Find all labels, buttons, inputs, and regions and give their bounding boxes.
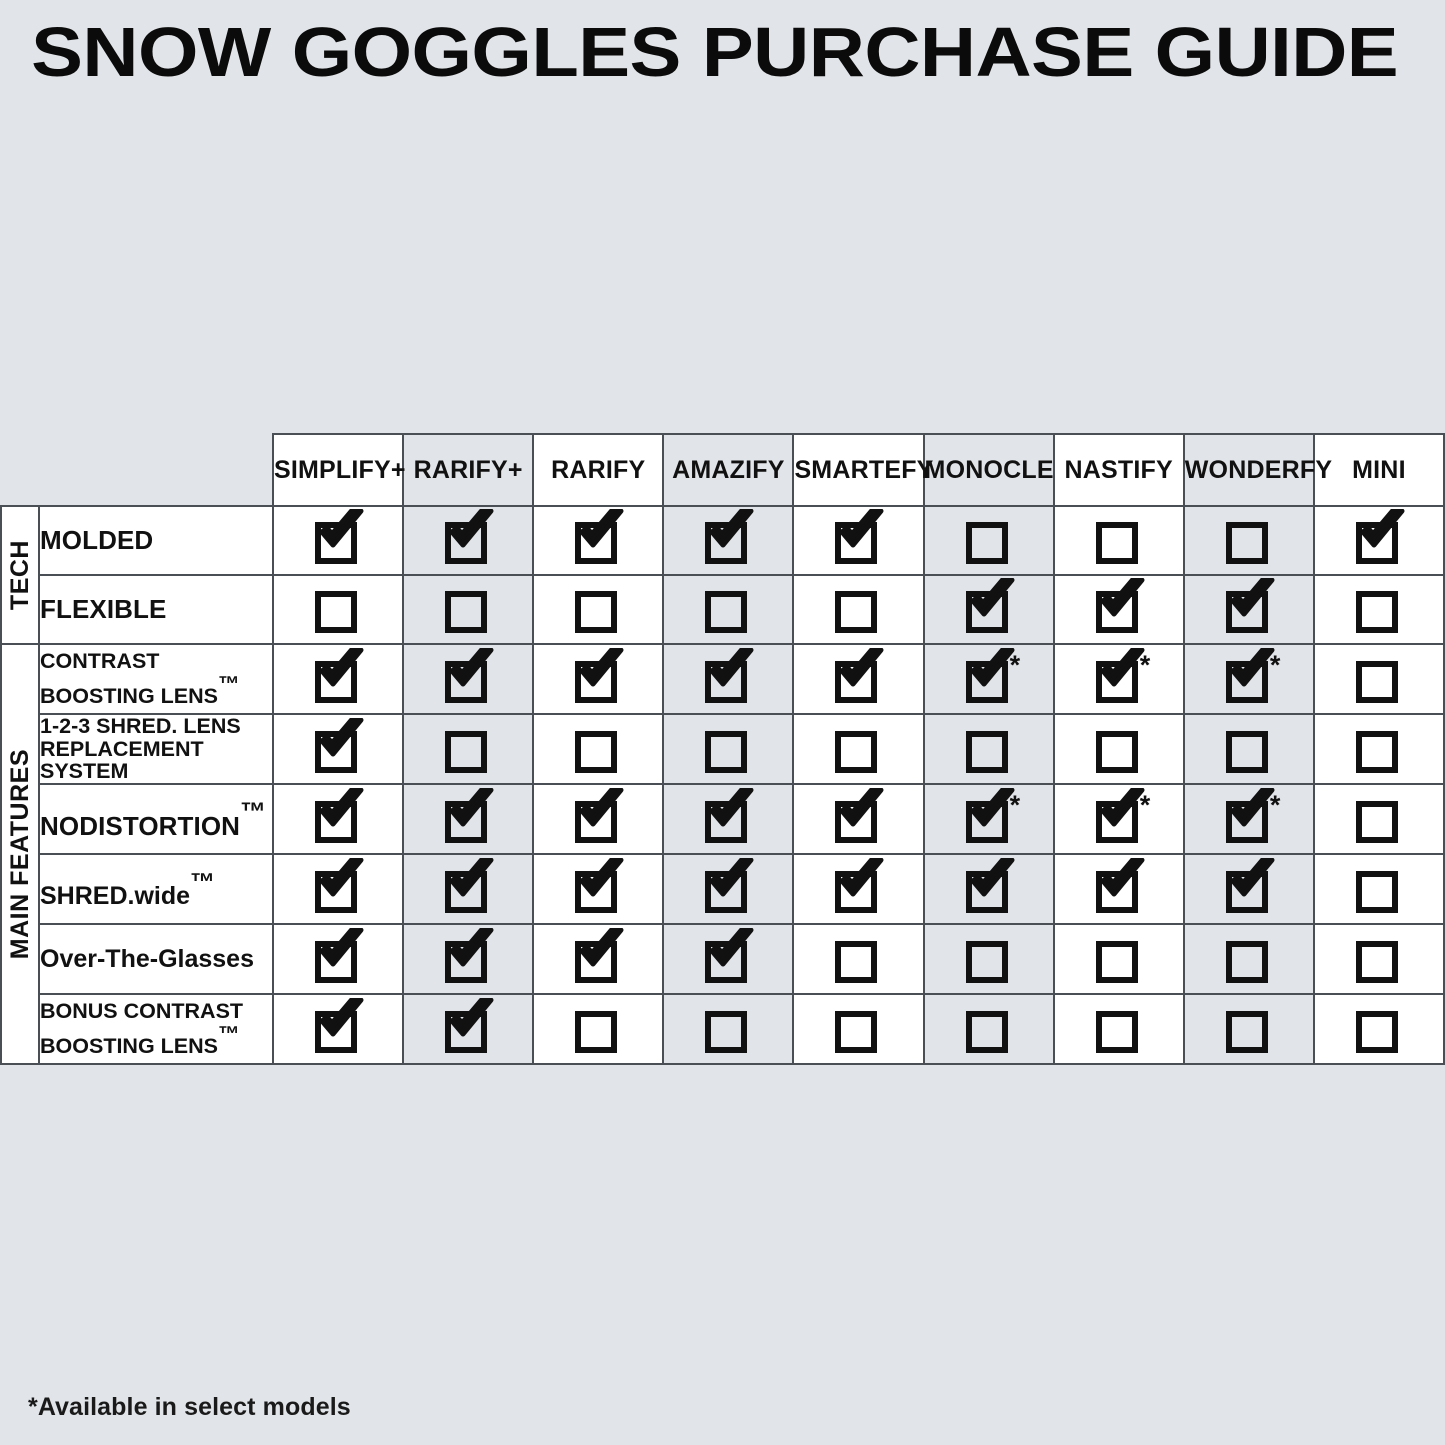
checkbox-box-icon <box>705 801 747 843</box>
checkbox-checked-icon <box>567 516 629 560</box>
checkbox-checked-icon <box>827 516 889 560</box>
cell-flexible-monocle[interactable] <box>924 575 1054 644</box>
cell-bonus-contrast-boosting-lens-simplify[interactable] <box>273 994 403 1064</box>
checkbox-box-icon <box>575 1011 617 1053</box>
cell-bonus-contrast-boosting-lens-rarify[interactable] <box>533 994 663 1064</box>
cell-1-2-3-shred-lens-replacement-system-wonderfy[interactable] <box>1184 714 1314 784</box>
checkbox-box-icon <box>575 731 617 773</box>
cell-flexible-rarify[interactable] <box>403 575 533 644</box>
checkbox-box-icon <box>1356 522 1398 564</box>
checkbox-checked-icon <box>307 516 369 560</box>
checkbox-checked-icon <box>307 865 369 909</box>
checkbox-empty-icon <box>827 585 889 629</box>
cell-flexible-nastify[interactable] <box>1054 575 1184 644</box>
asterisk-marker: * <box>1010 652 1021 679</box>
cell-bonus-contrast-boosting-lens-nastify[interactable] <box>1054 994 1184 1064</box>
checkbox-box-icon <box>315 1011 357 1053</box>
checkbox-empty-icon <box>1348 1005 1410 1049</box>
checkbox-empty-icon <box>697 1005 759 1049</box>
checkbox-box-icon <box>966 661 1008 703</box>
checkbox-box-icon <box>575 591 617 633</box>
checkbox-checked-icon <box>567 935 629 979</box>
checkbox-box-icon <box>445 801 487 843</box>
checkbox-empty-icon <box>1348 795 1410 839</box>
checkbox-box-icon <box>705 661 747 703</box>
checkbox-empty-icon <box>958 935 1020 979</box>
checkbox-box-icon <box>575 941 617 983</box>
checkbox-box-icon <box>1226 731 1268 773</box>
checkbox-box-icon <box>705 1011 747 1053</box>
checkbox-empty-icon <box>1348 725 1410 769</box>
checkbox-box-icon <box>315 731 357 773</box>
trademark-icon: ™ <box>218 672 240 696</box>
checkbox-box-icon <box>835 941 877 983</box>
table-body: TECHMOLDEDFLEXIBLEMAIN FEATURESCONTRAST … <box>1 506 1444 1064</box>
checkbox-box-icon <box>1096 941 1138 983</box>
checkbox-box-icon <box>835 731 877 773</box>
title-bar: SNOW GOGGLES PURCHASE GUIDE <box>0 0 1445 104</box>
checkbox-empty-icon <box>697 725 759 769</box>
cell-contrast-boosting-lens-smartefy[interactable] <box>793 644 923 714</box>
cell-1-2-3-shred-lens-replacement-system-nastify[interactable] <box>1054 714 1184 784</box>
checkbox-empty-icon <box>697 585 759 629</box>
cell-bonus-contrast-boosting-lens-rarify[interactable] <box>403 994 533 1064</box>
cell-molded-amazify[interactable] <box>663 506 793 575</box>
checkbox-box-icon <box>705 591 747 633</box>
table-row: Over-The-Glasses <box>1 924 1444 994</box>
column-header-row: SIMPLIFY+RARIFY+RARIFYAMAZIFYSMARTEFYMON… <box>1 434 1444 506</box>
cell-contrast-boosting-lens-nastify[interactable]: * <box>1054 644 1184 714</box>
cell-shred-wide-rarify[interactable] <box>533 854 663 924</box>
checkbox-box-icon <box>1096 661 1138 703</box>
checkbox-box-icon <box>1356 661 1398 703</box>
checkbox-empty-icon <box>1348 655 1410 699</box>
checkbox-empty-icon <box>958 725 1020 769</box>
checkbox-checked-icon <box>827 795 889 839</box>
checkbox-checked-icon <box>307 655 369 699</box>
asterisk-marker: * <box>1270 792 1281 819</box>
checkbox-empty-icon <box>567 1005 629 1049</box>
cell-shred-wide-monocle[interactable] <box>924 854 1054 924</box>
checkbox-box-icon <box>1096 591 1138 633</box>
checkbox-checked-icon <box>307 795 369 839</box>
cell-contrast-boosting-lens-rarify[interactable] <box>533 644 663 714</box>
asterisk-marker: * <box>1010 792 1021 819</box>
asterisk-marker: * <box>1140 652 1151 679</box>
checkbox-box-icon <box>1356 1011 1398 1053</box>
checkbox-empty-icon <box>1088 516 1150 560</box>
cell-molded-wonderfy[interactable] <box>1184 506 1314 575</box>
checkbox-box-icon <box>315 522 357 564</box>
checkbox-empty-icon <box>958 516 1020 560</box>
checkbox-empty-icon <box>437 725 499 769</box>
cell-molded-simplify[interactable] <box>273 506 403 575</box>
checkbox-empty-icon <box>1218 1005 1280 1049</box>
checkbox-box-icon <box>966 522 1008 564</box>
column-header-rarify: RARIFY+ <box>403 434 533 506</box>
checkbox-checked-icon <box>307 725 369 769</box>
checkbox-checked-icon: * <box>1218 655 1280 699</box>
cell-nodistortion-wonderfy[interactable]: * <box>1184 784 1314 854</box>
corner-blank-feature <box>39 434 273 506</box>
checkbox-checked-icon: * <box>1218 795 1280 839</box>
table-row: NODISTORTION™*** <box>1 784 1444 854</box>
cell-over-the-glasses-monocle[interactable] <box>924 924 1054 994</box>
cell-molded-nastify[interactable] <box>1054 506 1184 575</box>
cell-over-the-glasses-mini[interactable] <box>1314 924 1444 994</box>
column-header-rarify: RARIFY <box>533 434 663 506</box>
asterisk-marker: * <box>1140 792 1151 819</box>
cell-shred-wide-rarify[interactable] <box>403 854 533 924</box>
cell-1-2-3-shred-lens-replacement-system-rarify[interactable] <box>533 714 663 784</box>
checkbox-checked-icon <box>437 865 499 909</box>
cell-nodistortion-smartefy[interactable] <box>793 784 923 854</box>
cell-shred-wide-nastify[interactable] <box>1054 854 1184 924</box>
feature-label-shred-wide: SHRED.wide™ <box>39 854 273 924</box>
checkbox-empty-icon <box>827 725 889 769</box>
checkbox-empty-icon <box>567 725 629 769</box>
cell-contrast-boosting-lens-amazify[interactable] <box>663 644 793 714</box>
cell-bonus-contrast-boosting-lens-amazify[interactable] <box>663 994 793 1064</box>
checkbox-checked-icon <box>697 795 759 839</box>
column-header-nastify: NASTIFY <box>1054 434 1184 506</box>
section-label-text: MAIN FEATURES <box>6 749 35 959</box>
feature-label-text: 1-2-3 SHRED. LENS REPLACEMENT SYSTEM <box>40 714 241 783</box>
checkbox-box-icon <box>1226 1011 1268 1053</box>
cell-nodistortion-amazify[interactable] <box>663 784 793 854</box>
corner-blank-section <box>1 434 39 506</box>
checkbox-box-icon <box>966 871 1008 913</box>
cell-nodistortion-mini[interactable] <box>1314 784 1444 854</box>
table-row: FLEXIBLE <box>1 575 1444 644</box>
checkbox-box-icon <box>1356 591 1398 633</box>
cell-over-the-glasses-simplify[interactable] <box>273 924 403 994</box>
cell-1-2-3-shred-lens-replacement-system-monocle[interactable] <box>924 714 1054 784</box>
cell-bonus-contrast-boosting-lens-monocle[interactable] <box>924 994 1054 1064</box>
checkbox-box-icon <box>575 871 617 913</box>
checkbox-empty-icon <box>1218 725 1280 769</box>
checkbox-checked-icon <box>567 865 629 909</box>
checkbox-box-icon <box>1096 801 1138 843</box>
cell-shred-wide-wonderfy[interactable] <box>1184 854 1314 924</box>
checkbox-box-icon <box>575 661 617 703</box>
feature-label-text: Over-The-Glasses <box>40 945 254 973</box>
cell-1-2-3-shred-lens-replacement-system-mini[interactable] <box>1314 714 1444 784</box>
checkbox-empty-icon <box>827 1005 889 1049</box>
checkbox-checked-icon <box>958 585 1020 629</box>
checkbox-box-icon <box>1226 591 1268 633</box>
cell-molded-mini[interactable] <box>1314 506 1444 575</box>
column-header-monocle: MONOCLE <box>924 434 1054 506</box>
table-header: SIMPLIFY+RARIFY+RARIFYAMAZIFYSMARTEFYMON… <box>1 434 1444 506</box>
section-label-text: TECH <box>6 540 35 610</box>
checkbox-checked-icon <box>567 795 629 839</box>
checkbox-checked-icon <box>697 516 759 560</box>
checkbox-box-icon <box>1356 801 1398 843</box>
checkbox-empty-icon <box>1088 725 1150 769</box>
checkbox-checked-icon <box>1218 585 1280 629</box>
cell-contrast-boosting-lens-simplify[interactable] <box>273 644 403 714</box>
feature-label-1-2-3-shred-lens-replacement-system: 1-2-3 SHRED. LENS REPLACEMENT SYSTEM <box>39 714 273 784</box>
checkbox-box-icon <box>705 731 747 773</box>
checkbox-box-icon <box>1356 871 1398 913</box>
checkbox-box-icon <box>445 731 487 773</box>
checkbox-box-icon <box>445 591 487 633</box>
cell-shred-wide-mini[interactable] <box>1314 854 1444 924</box>
checkbox-checked-icon: * <box>958 655 1020 699</box>
checkbox-box-icon <box>315 941 357 983</box>
cell-molded-monocle[interactable] <box>924 506 1054 575</box>
checkbox-box-icon <box>445 661 487 703</box>
checkbox-empty-icon <box>1088 1005 1150 1049</box>
cell-shred-wide-simplify[interactable] <box>273 854 403 924</box>
cell-flexible-simplify[interactable] <box>273 575 403 644</box>
checkbox-checked-icon <box>1218 865 1280 909</box>
table-row: BONUS CONTRAST BOOSTING LENS™ <box>1 994 1444 1064</box>
checkbox-box-icon <box>835 591 877 633</box>
feature-label-nodistortion: NODISTORTION™ <box>39 784 273 854</box>
cell-over-the-glasses-nastify[interactable] <box>1054 924 1184 994</box>
cell-flexible-amazify[interactable] <box>663 575 793 644</box>
cell-1-2-3-shred-lens-replacement-system-smartefy[interactable] <box>793 714 923 784</box>
checkbox-box-icon <box>966 731 1008 773</box>
checkbox-box-icon <box>966 1011 1008 1053</box>
cell-molded-smartefy[interactable] <box>793 506 923 575</box>
checkbox-checked-icon: * <box>1088 795 1150 839</box>
cell-molded-rarify[interactable] <box>533 506 663 575</box>
checkbox-box-icon <box>1096 1011 1138 1053</box>
checkbox-checked-icon <box>697 655 759 699</box>
checkbox-checked-icon <box>1088 585 1150 629</box>
cell-flexible-smartefy[interactable] <box>793 575 923 644</box>
checkbox-empty-icon <box>1088 935 1150 979</box>
checkbox-checked-icon <box>437 516 499 560</box>
checkbox-checked-icon <box>437 935 499 979</box>
checkbox-checked-icon <box>437 655 499 699</box>
cell-1-2-3-shred-lens-replacement-system-amazify[interactable] <box>663 714 793 784</box>
checkbox-checked-icon <box>958 865 1020 909</box>
goggles-comparison-table: SIMPLIFY+RARIFY+RARIFYAMAZIFYSMARTEFYMON… <box>0 433 1445 1065</box>
feature-label-text: FLEXIBLE <box>40 594 166 624</box>
checkbox-checked-icon <box>1348 516 1410 560</box>
checkbox-box-icon <box>445 522 487 564</box>
checkbox-empty-icon <box>1348 585 1410 629</box>
cell-flexible-mini[interactable] <box>1314 575 1444 644</box>
checkbox-box-icon <box>315 871 357 913</box>
cell-over-the-glasses-amazify[interactable] <box>663 924 793 994</box>
checkbox-box-icon <box>705 522 747 564</box>
checkbox-box-icon <box>1096 871 1138 913</box>
checkbox-box-icon <box>575 801 617 843</box>
checkbox-empty-icon <box>437 585 499 629</box>
checkbox-checked-icon <box>697 935 759 979</box>
feature-label-contrast-boosting-lens: CONTRAST BOOSTING LENS™ <box>39 644 273 714</box>
trademark-icon: ™ <box>218 1022 240 1046</box>
checkbox-box-icon <box>445 871 487 913</box>
feature-label-text: NODISTORTION™ <box>40 811 266 841</box>
table-row: SHRED.wide™ <box>1 854 1444 924</box>
checkbox-box-icon <box>445 941 487 983</box>
checkbox-checked-icon <box>827 655 889 699</box>
cell-contrast-boosting-lens-rarify[interactable] <box>403 644 533 714</box>
section-label-tech: TECH <box>1 506 39 644</box>
checkbox-checked-icon <box>567 655 629 699</box>
checkbox-box-icon <box>835 871 877 913</box>
checkbox-box-icon <box>315 661 357 703</box>
column-header-smartefy: SMARTEFY <box>793 434 923 506</box>
cell-flexible-wonderfy[interactable] <box>1184 575 1314 644</box>
cell-nodistortion-nastify[interactable]: * <box>1054 784 1184 854</box>
checkbox-box-icon <box>1356 731 1398 773</box>
checkbox-checked-icon <box>1088 865 1150 909</box>
table-row: MAIN FEATURESCONTRAST BOOSTING LENS™*** <box>1 644 1444 714</box>
checkbox-box-icon <box>966 591 1008 633</box>
cell-contrast-boosting-lens-wonderfy[interactable]: * <box>1184 644 1314 714</box>
feature-label-text: SHRED.wide™ <box>40 882 215 910</box>
table-row: TECHMOLDED <box>1 506 1444 575</box>
cell-shred-wide-smartefy[interactable] <box>793 854 923 924</box>
checkbox-empty-icon <box>1218 516 1280 560</box>
asterisk-marker: * <box>1270 652 1281 679</box>
feature-label-text: BONUS CONTRAST BOOSTING LENS™ <box>40 999 243 1057</box>
cell-contrast-boosting-lens-monocle[interactable]: * <box>924 644 1054 714</box>
feature-label-flexible: FLEXIBLE <box>39 575 273 644</box>
cell-over-the-glasses-smartefy[interactable] <box>793 924 923 994</box>
cell-over-the-glasses-rarify[interactable] <box>403 924 533 994</box>
checkbox-checked-icon <box>827 865 889 909</box>
column-header-amazify: AMAZIFY <box>663 434 793 506</box>
cell-bonus-contrast-boosting-lens-smartefy[interactable] <box>793 994 923 1064</box>
checkbox-empty-icon <box>827 935 889 979</box>
cell-1-2-3-shred-lens-replacement-system-rarify[interactable] <box>403 714 533 784</box>
checkbox-empty-icon <box>1218 935 1280 979</box>
checkbox-box-icon <box>835 661 877 703</box>
page-title: SNOW GOGGLES PURCHASE GUIDE <box>0 17 1398 87</box>
cell-1-2-3-shred-lens-replacement-system-simplify[interactable] <box>273 714 403 784</box>
checkbox-box-icon <box>1096 731 1138 773</box>
checkbox-box-icon <box>1226 522 1268 564</box>
checkbox-box-icon <box>1356 941 1398 983</box>
checkbox-checked-icon: * <box>1088 655 1150 699</box>
checkbox-box-icon <box>315 801 357 843</box>
column-header-simplify: SIMPLIFY+ <box>273 434 403 506</box>
footnote-available-select-models: *Available in select models <box>28 1393 351 1422</box>
checkbox-box-icon <box>1226 661 1268 703</box>
cell-molded-rarify[interactable] <box>403 506 533 575</box>
checkbox-empty-icon <box>1348 865 1410 909</box>
cell-bonus-contrast-boosting-lens-mini[interactable] <box>1314 994 1444 1064</box>
checkbox-box-icon <box>1096 522 1138 564</box>
trademark-icon: ™ <box>240 796 266 826</box>
checkbox-box-icon <box>966 801 1008 843</box>
cell-nodistortion-rarify[interactable] <box>533 784 663 854</box>
checkbox-checked-icon <box>437 1005 499 1049</box>
checkbox-checked-icon <box>437 795 499 839</box>
cell-over-the-glasses-wonderfy[interactable] <box>1184 924 1314 994</box>
cell-shred-wide-amazify[interactable] <box>663 854 793 924</box>
cell-flexible-rarify[interactable] <box>533 575 663 644</box>
cell-nodistortion-rarify[interactable] <box>403 784 533 854</box>
checkbox-box-icon <box>835 522 877 564</box>
checkbox-checked-icon <box>307 1005 369 1049</box>
feature-label-text: MOLDED <box>40 525 153 555</box>
checkbox-empty-icon <box>567 585 629 629</box>
table-row: 1-2-3 SHRED. LENS REPLACEMENT SYSTEM <box>1 714 1444 784</box>
checkbox-box-icon <box>575 522 617 564</box>
checkbox-box-icon <box>705 871 747 913</box>
checkbox-box-icon <box>835 801 877 843</box>
cell-nodistortion-simplify[interactable] <box>273 784 403 854</box>
feature-label-text: CONTRAST BOOSTING LENS™ <box>40 649 239 707</box>
column-header-mini: MINI <box>1314 434 1444 506</box>
checkbox-box-icon <box>315 591 357 633</box>
cell-nodistortion-monocle[interactable]: * <box>924 784 1054 854</box>
section-label-main-features: MAIN FEATURES <box>1 644 39 1064</box>
checkbox-empty-icon <box>1348 935 1410 979</box>
feature-label-bonus-contrast-boosting-lens: BONUS CONTRAST BOOSTING LENS™ <box>39 994 273 1064</box>
cell-contrast-boosting-lens-mini[interactable] <box>1314 644 1444 714</box>
cell-bonus-contrast-boosting-lens-wonderfy[interactable] <box>1184 994 1314 1064</box>
trademark-icon: ™ <box>190 868 215 896</box>
checkbox-empty-icon <box>958 1005 1020 1049</box>
cell-over-the-glasses-rarify[interactable] <box>533 924 663 994</box>
checkbox-box-icon <box>1226 801 1268 843</box>
checkbox-empty-icon <box>307 585 369 629</box>
checkbox-checked-icon <box>697 865 759 909</box>
checkbox-checked-icon: * <box>958 795 1020 839</box>
checkbox-box-icon <box>1226 871 1268 913</box>
checkbox-box-icon <box>966 941 1008 983</box>
feature-label-over-the-glasses: Over-The-Glasses <box>39 924 273 994</box>
feature-label-molded: MOLDED <box>39 506 273 575</box>
checkbox-box-icon <box>1226 941 1268 983</box>
checkbox-box-icon <box>445 1011 487 1053</box>
column-header-wonderfy: WONDERFY <box>1184 434 1314 506</box>
checkbox-box-icon <box>705 941 747 983</box>
checkbox-box-icon <box>835 1011 877 1053</box>
checkbox-checked-icon <box>307 935 369 979</box>
